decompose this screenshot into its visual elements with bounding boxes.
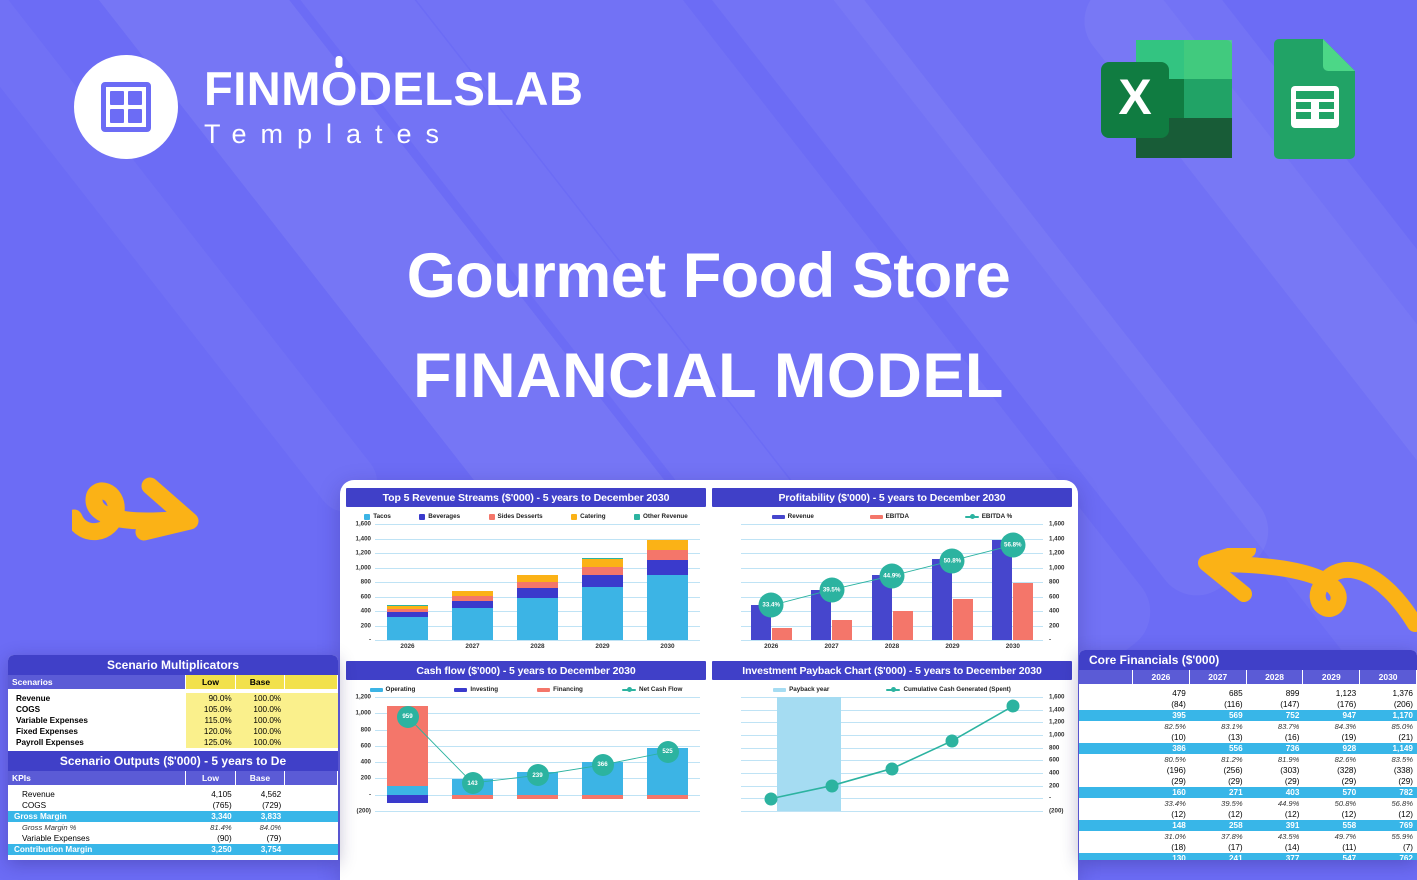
table-cell: 82.5% (1133, 721, 1190, 732)
table-row: Payroll Expenses125.0%100.0% (8, 737, 338, 748)
brand-logo: FINMODELSLAB Templates (74, 55, 583, 159)
bar-segment (387, 795, 427, 803)
table-cell: 37.8% (1190, 831, 1247, 842)
bar-segment (582, 575, 622, 587)
table-cell: 100.0% (236, 726, 286, 737)
table-cell (285, 833, 338, 844)
table-cell: (256) (1190, 765, 1247, 776)
table-cell (1079, 754, 1133, 765)
brand-name-part2: DELSLAB (358, 62, 583, 115)
column-header: Base (236, 675, 286, 689)
table-cell: 90.0% (186, 693, 236, 704)
table-cell (1079, 743, 1133, 754)
table-cell (285, 789, 338, 800)
table-cell: (729) (236, 800, 286, 811)
grid-logo-icon (101, 82, 151, 132)
bar-group (440, 697, 505, 811)
table-cell: 377 (1247, 853, 1304, 860)
table-cell: (29) (1247, 776, 1304, 787)
bar-group (862, 524, 922, 640)
hero-line2: FINANCIAL MODEL (0, 340, 1417, 412)
table-cell: 569 (1190, 710, 1247, 721)
table-cell: 56.8% (1360, 798, 1417, 809)
column-header: Low (186, 675, 236, 689)
table-cell: 736 (1247, 743, 1304, 754)
table-row: (18)(17)(14)(11)(7) (1079, 842, 1417, 853)
chart-title: Cash flow ($'000) - 5 years to December … (346, 661, 706, 680)
logo-circle (74, 55, 178, 159)
table-cell: (765) (186, 800, 236, 811)
google-sheets-icon (1268, 38, 1360, 160)
table-cell (1079, 798, 1133, 809)
table-cell: 547 (1303, 853, 1360, 860)
table-cell: Variable Expenses (8, 715, 186, 726)
svg-text:X: X (1118, 69, 1151, 125)
y-axis-labels: 1,2001,000800600400200-(200) (348, 697, 374, 811)
y-tick: 200 (1049, 782, 1059, 789)
y-tick: - (369, 791, 371, 798)
bar-segment (582, 795, 622, 799)
table-cell (285, 726, 338, 737)
table-cell (1079, 721, 1133, 732)
table-row: Fixed Expenses120.0%100.0% (8, 726, 338, 737)
x-axis-labels: 20262027202820292030 (375, 640, 700, 654)
bar-segment (647, 575, 687, 640)
bar-segment (582, 567, 622, 576)
y-tick: - (369, 637, 371, 644)
table-cell: 81.2% (1190, 754, 1247, 765)
table-cell (285, 693, 338, 704)
table-cell: (79) (236, 833, 286, 844)
bar (893, 611, 913, 640)
table-cell (1079, 688, 1133, 699)
table-cell (1079, 787, 1133, 798)
chart-plot-area: 1,6001,4001,2001,000800600400200-(200) (714, 697, 1070, 825)
table-cell: 1,376 (1360, 688, 1417, 699)
column-header: Base (236, 771, 286, 785)
bar-segment (387, 786, 427, 795)
brand-name-o: O (321, 65, 358, 112)
y-tick: (200) (1049, 808, 1063, 815)
table-cell (285, 844, 338, 855)
table-cell (1079, 842, 1133, 853)
bar (872, 575, 892, 640)
table-cell (285, 800, 338, 811)
table-cell: (11) (1303, 842, 1360, 853)
table-cell: 83.1% (1190, 721, 1247, 732)
table-cell: 782 (1360, 787, 1417, 798)
table-cell: 83.5% (1360, 754, 1417, 765)
y-tick: (200) (357, 808, 371, 815)
table-cell: 769 (1360, 820, 1417, 831)
table-cell: 81.4% (186, 822, 236, 833)
y-tick: 1,400 (1049, 706, 1064, 713)
table-cell: COGS (8, 800, 186, 811)
chart-title: Top 5 Revenue Streams ($'000) - 5 years … (346, 488, 706, 507)
table-cell: 3,833 (236, 811, 286, 822)
bar (992, 540, 1012, 640)
legend-item: Cumulative Cash Generated (Spent) (886, 686, 1010, 693)
table-cell: (303) (1247, 765, 1304, 776)
legend-item: Tacos (364, 513, 391, 520)
table-row: Revenue90.0%100.0% (8, 693, 338, 704)
table-cell: (196) (1133, 765, 1190, 776)
table-row: (12)(12)(12)(12)(12) (1079, 809, 1417, 820)
table-cell: 4,562 (236, 789, 286, 800)
table-cell: 49.7% (1303, 831, 1360, 842)
bar-group (570, 524, 635, 640)
chart-profitability[interactable]: Profitability ($'000) - 5 years to Decem… (712, 488, 1072, 654)
table-cell: (90) (186, 833, 236, 844)
column-header: KPIs (8, 771, 186, 785)
y-tick: 400 (361, 608, 371, 615)
table-cell: Gross Margin % (8, 822, 186, 833)
table-cell: (12) (1247, 809, 1304, 820)
y-tick: 1,600 (356, 521, 371, 528)
table-cell: 395 (1133, 710, 1190, 721)
core-financials-spreadsheet[interactable]: Core Financials ($'000) 2026202720282029… (1079, 650, 1417, 860)
table-cell: (12) (1190, 809, 1247, 820)
table-cell: (18) (1133, 842, 1190, 853)
bar-segment (517, 795, 557, 799)
bar-segment (387, 706, 427, 785)
bar (772, 628, 792, 640)
table-row: Gross Margin3,3403,833 (8, 811, 338, 822)
table-cell (1079, 699, 1133, 710)
y-tick: 800 (361, 726, 371, 733)
table-cell: 50.8% (1303, 798, 1360, 809)
y-tick: 800 (1049, 744, 1059, 751)
sheet-title: Scenario Multiplicators (8, 655, 338, 675)
bar-group (375, 697, 440, 811)
table-header-row: 20262027202820292030 (1079, 670, 1417, 684)
table-cell: 100.0% (236, 715, 286, 726)
y-tick: 1,200 (356, 550, 371, 557)
table-row: 33.4%39.5%44.9%50.8%56.8% (1079, 798, 1417, 809)
table-cell: (13) (1190, 732, 1247, 743)
table-cell: (29) (1190, 776, 1247, 787)
bar (932, 559, 952, 640)
chart-revenue-streams[interactable]: Top 5 Revenue Streams ($'000) - 5 years … (346, 488, 706, 654)
table-row: Contribution Margin3,2503,754 (8, 844, 338, 855)
bar-group (922, 524, 982, 640)
table-cell: 43.5% (1247, 831, 1304, 842)
table-cell: 105.0% (186, 704, 236, 715)
table-cell: (29) (1303, 776, 1360, 787)
table-cell: (84) (1133, 699, 1190, 710)
table-cell: Revenue (8, 693, 186, 704)
column-header: Low (186, 771, 236, 785)
table-row: 3865567369281,149 (1079, 743, 1417, 754)
bar-group (983, 524, 1043, 640)
chart-cash-flow[interactable]: Cash flow ($'000) - 5 years to December … (346, 661, 706, 825)
table-cell: 258 (1190, 820, 1247, 831)
table-cell: (19) (1303, 732, 1360, 743)
table-cell: 1,123 (1303, 688, 1360, 699)
table-cell (1079, 809, 1133, 820)
table-cell: 31.0% (1133, 831, 1190, 842)
chart-legend: Operating Investing Financing Net Cash F… (346, 680, 706, 697)
table-cell: 120.0% (186, 726, 236, 737)
y-axis-labels: 1,6001,4001,2001,000800600400200- (1046, 524, 1070, 640)
table-cell: 558 (1303, 820, 1360, 831)
table-cell: (10) (1133, 732, 1190, 743)
column-header: 2026 (1133, 670, 1190, 684)
bar-segment (517, 598, 557, 640)
table-cell: 160 (1133, 787, 1190, 798)
table-cell: (17) (1190, 842, 1247, 853)
x-tick: 2030 (983, 640, 1043, 654)
x-tick: 2027 (801, 640, 861, 654)
table-row: (10)(13)(16)(19)(21) (1079, 732, 1417, 743)
table-cell (285, 715, 338, 726)
table-cell: 130 (1133, 853, 1190, 860)
bar-segment (647, 748, 687, 794)
y-tick: 1,400 (1049, 535, 1064, 542)
bar-segment (647, 540, 687, 549)
table-cell: 39.5% (1190, 798, 1247, 809)
table-row: 160271403570782 (1079, 787, 1417, 798)
bar-group (635, 524, 700, 640)
table-cell: (14) (1247, 842, 1304, 853)
y-tick: 400 (1049, 608, 1059, 615)
table-cell: Gross Margin (8, 811, 186, 822)
table-cell: Payroll Expenses (8, 737, 186, 748)
table-row: COGS105.0%100.0% (8, 704, 338, 715)
y-tick: 1,200 (1049, 550, 1064, 557)
y-tick: 1,000 (1049, 564, 1064, 571)
chart-title: Profitability ($'000) - 5 years to Decem… (712, 488, 1072, 507)
table-cell (1079, 853, 1133, 860)
bar-segment (517, 588, 557, 597)
table-cell: 100.0% (236, 693, 286, 704)
dashboard-panel: Top 5 Revenue Streams ($'000) - 5 years … (340, 480, 1078, 880)
brand-name: FINMODELSLAB (204, 65, 583, 112)
table-cell: 82.6% (1303, 754, 1360, 765)
y-tick: 200 (1049, 622, 1059, 629)
column-header: Scenarios (8, 675, 186, 689)
bar-group (570, 697, 635, 811)
bar (953, 599, 973, 640)
chart-legend: Revenue EBITDA EBITDA % (712, 507, 1072, 524)
x-tick: 2029 (570, 640, 635, 654)
table-cell: 685 (1190, 688, 1247, 699)
bar-segment (517, 582, 557, 589)
x-tick: 2028 (862, 640, 922, 654)
table-cell: 44.9% (1247, 798, 1304, 809)
legend-item: Operating (370, 686, 416, 693)
bar-group (635, 697, 700, 811)
x-tick: 2028 (505, 640, 570, 654)
bar-group (505, 524, 570, 640)
table-cell: 386 (1133, 743, 1190, 754)
y-tick: 1,200 (1049, 719, 1064, 726)
y-tick: 600 (361, 593, 371, 600)
bar-group (505, 697, 570, 811)
y-tick: - (1049, 637, 1051, 644)
table-cell: (116) (1190, 699, 1247, 710)
table-header-row: ScenariosLowBase (8, 675, 338, 689)
brand-name-part1: FINM (204, 62, 321, 115)
table-cell: 570 (1303, 787, 1360, 798)
legend-item: Payback year (773, 686, 829, 693)
chart-plot-area: 1,2001,000800600400200-(200) 95914323936… (348, 697, 704, 825)
y-tick: 200 (361, 775, 371, 782)
table-header-row: KPIsLowBase (8, 771, 338, 785)
table-cell: 899 (1247, 688, 1304, 699)
table-cell: Fixed Expenses (8, 726, 186, 737)
table-cell: 1,170 (1360, 710, 1417, 721)
table-row: Gross Margin %81.4%84.0% (8, 822, 338, 833)
legend-item: EBITDA % (965, 513, 1013, 520)
y-tick: 1,000 (1049, 731, 1064, 738)
table-cell (285, 737, 338, 748)
sheet-title-2: Scenario Outputs ($'000) - 5 years to De (8, 751, 338, 771)
table-cell (285, 811, 338, 822)
table-cell: 3,754 (236, 844, 286, 855)
y-axis-labels: 1,6001,4001,2001,000800600400200- (348, 524, 374, 640)
bar-segment (647, 795, 687, 799)
x-tick: 2029 (922, 640, 982, 654)
column-header: 2030 (1360, 670, 1417, 684)
y-tick: - (1049, 795, 1051, 802)
table-cell: (21) (1360, 732, 1417, 743)
table-cell: Revenue (8, 789, 186, 800)
table-cell: 479 (1133, 688, 1190, 699)
bar-group (375, 524, 440, 640)
table-row: 31.0%37.8%43.5%49.7%55.9% (1079, 831, 1417, 842)
hero-title-block: Gourmet Food Store FINANCIAL MODEL (0, 240, 1417, 412)
bar-segment (452, 779, 492, 794)
table-cell: 3,250 (186, 844, 236, 855)
table-cell: 271 (1190, 787, 1247, 798)
y-tick: 600 (1049, 757, 1059, 764)
hero-line1: Gourmet Food Store (0, 240, 1417, 312)
table-row: 80.5%81.2%81.9%82.6%83.5% (1079, 754, 1417, 765)
y-tick: 400 (361, 759, 371, 766)
table-cell: 752 (1247, 710, 1304, 721)
table-row: 148258391558769 (1079, 820, 1417, 831)
core-financials-table: 202620272028202920304796858991,1231,376(… (1079, 670, 1417, 860)
table-cell: 84.0% (236, 822, 286, 833)
bar (1013, 583, 1033, 640)
bar (832, 620, 852, 640)
bar (811, 590, 831, 640)
chart-title: Investment Payback Chart ($'000) - 5 yea… (712, 661, 1072, 680)
app-icons: X (1099, 38, 1360, 160)
curved-arrow-left-icon (1182, 548, 1417, 663)
table-cell: (328) (1303, 765, 1360, 776)
table-cell (1079, 765, 1133, 776)
chart-plot-area: 1,6001,4001,2001,000800600400200- 202620… (348, 524, 704, 654)
y-tick: 600 (361, 742, 371, 749)
table-cell (1079, 820, 1133, 831)
column-header: 2029 (1303, 670, 1360, 684)
column-header (285, 675, 338, 689)
table-row: (196)(256)(303)(328)(338) (1079, 765, 1417, 776)
table-cell: 81.9% (1247, 754, 1304, 765)
y-tick: 1,000 (356, 564, 371, 571)
chart-legend: Payback year Cumulative Cash Generated (… (712, 680, 1072, 697)
table-row: 3955697529471,170 (1079, 710, 1417, 721)
table-cell: 115.0% (186, 715, 236, 726)
table-row: (84)(116)(147)(176)(206) (1079, 699, 1417, 710)
bar-segment (517, 772, 557, 795)
table-cell: 33.4% (1133, 798, 1190, 809)
curved-arrow-right-icon (72, 440, 222, 555)
y-tick: 1,200 (356, 694, 371, 701)
legend-item: Sides Desserts (489, 513, 543, 520)
bars (375, 524, 700, 640)
table-cell: 83.7% (1247, 721, 1304, 732)
table-cell: 55.9% (1360, 831, 1417, 842)
table-cell: 403 (1247, 787, 1304, 798)
table-row: Variable Expenses115.0%100.0% (8, 715, 338, 726)
chart-plot-area: 1,6001,4001,2001,000800600400200- 33.4%3… (714, 524, 1070, 654)
table-cell (1079, 831, 1133, 842)
table-cell: 947 (1303, 710, 1360, 721)
x-tick: 2026 (375, 640, 440, 654)
legend-item: Beverages (419, 513, 460, 520)
bar-group (440, 524, 505, 640)
table-cell: 80.5% (1133, 754, 1190, 765)
bar-segment (452, 608, 492, 640)
sheet-title: Core Financials ($'000) (1079, 650, 1417, 670)
table-row: 82.5%83.1%83.7%84.3%85.0% (1079, 721, 1417, 732)
x-tick: 2027 (440, 640, 505, 654)
bar-segment (452, 795, 492, 799)
dashboard-row-bottom: Cash flow ($'000) - 5 years to December … (346, 661, 1072, 825)
column-header: 2028 (1247, 670, 1304, 684)
bar (751, 605, 771, 640)
table-cell: Contribution Margin (8, 844, 186, 855)
table-cell (285, 822, 338, 833)
table-cell: 84.3% (1303, 721, 1360, 732)
x-axis-labels: 20262027202820292030 (741, 640, 1043, 654)
table-cell (1079, 732, 1133, 743)
table-row: Variable Expenses(90)(79) (8, 833, 338, 844)
scenario-outputs-table: KPIsLowBaseRevenue4,1054,562COGS(765)(72… (8, 771, 338, 855)
table-cell: (12) (1360, 809, 1417, 820)
table-cell: 928 (1303, 743, 1360, 754)
y-tick: 1,000 (356, 710, 371, 717)
bar-segment (647, 560, 687, 575)
table-cell: 241 (1190, 853, 1247, 860)
chart-legend: Tacos Beverages Sides Desserts Catering … (346, 507, 706, 524)
y-axis-labels: 1,6001,4001,2001,000800600400200-(200) (1046, 697, 1070, 811)
table-cell: (12) (1133, 809, 1190, 820)
chart-investment-payback[interactable]: Investment Payback Chart ($'000) - 5 yea… (712, 661, 1072, 825)
table-cell: COGS (8, 704, 186, 715)
table-cell: 3,340 (186, 811, 236, 822)
bars (375, 697, 700, 811)
scenario-spreadsheet[interactable]: Scenario Multiplicators ScenariosLowBase… (8, 655, 338, 860)
y-tick: 800 (361, 579, 371, 586)
table-cell (285, 704, 338, 715)
bars (741, 524, 1043, 640)
table-cell: 100.0% (236, 704, 286, 715)
y-tick: 800 (1049, 579, 1059, 586)
legend-item: Financing (537, 686, 583, 693)
table-cell: 762 (1360, 853, 1417, 860)
x-tick: 2030 (635, 640, 700, 654)
legend-item: Net Cash Flow (622, 686, 682, 693)
table-cell (1079, 776, 1133, 787)
y-tick: 1,400 (356, 535, 371, 542)
table-cell (1079, 710, 1133, 721)
table-cell: (7) (1360, 842, 1417, 853)
table-cell: 100.0% (236, 737, 286, 748)
